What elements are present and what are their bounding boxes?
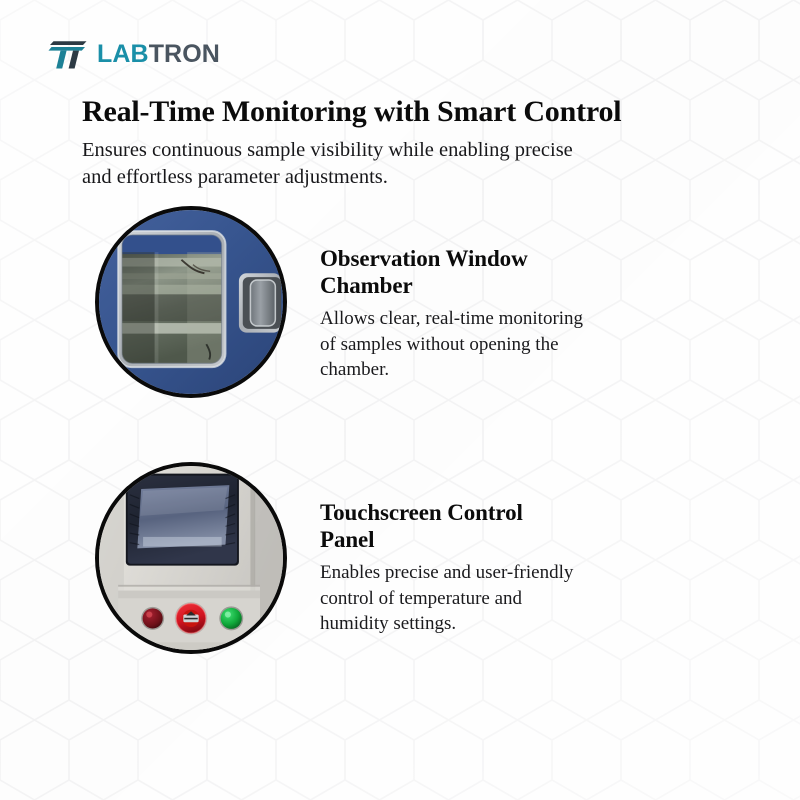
brand-wordmark: LABTRON xyxy=(97,42,220,67)
brand-word-lab: LAB xyxy=(97,40,149,68)
observation-window-photo xyxy=(95,206,287,398)
feature-touchscreen-panel-title: Touchscreen Control Panel xyxy=(320,500,692,553)
labtron-tt-monogram-icon xyxy=(48,38,90,70)
feature-desc-line-3: chamber. xyxy=(320,357,692,382)
heading-block: Real-Time Monitoring with Smart Control … xyxy=(82,96,702,190)
feature-desc-line-2: control of temperature and xyxy=(320,586,692,611)
feature-desc-line-2: of samples without opening the xyxy=(320,332,692,357)
feature-observation-window-text: Observation Window Chamber Allows clear,… xyxy=(320,246,692,382)
feature-observation-window-description: Allows clear, real-time monitoring of sa… xyxy=(320,306,692,382)
brand-logo[interactable]: LABTRON xyxy=(48,36,220,72)
feature-title-line-2: Chamber xyxy=(320,273,692,300)
feature-touchscreen-panel-text: Touchscreen Control Panel Enables precis… xyxy=(320,500,692,636)
feature-title-line-1: Touchscreen Control xyxy=(320,500,692,527)
page-subtitle-line-2: and effortless parameter adjustments. xyxy=(82,164,702,190)
feature-observation-window: Observation Window Chamber Allows clear,… xyxy=(0,206,800,406)
feature-desc-line-3: humidity settings. xyxy=(320,611,692,636)
brand-word-tron: TRON xyxy=(149,40,220,68)
page-title: Real-Time Monitoring with Smart Control xyxy=(82,96,702,128)
touchscreen-control-panel-photo xyxy=(95,462,287,654)
feature-touchscreen-panel: Touchscreen Control Panel Enables precis… xyxy=(0,462,800,668)
feature-desc-line-1: Enables precise and user-friendly xyxy=(320,560,692,585)
promo-card: LABTRON Real-Time Monitoring with Smart … xyxy=(0,0,800,800)
page-subtitle-line-1: Ensures continuous sample visibility whi… xyxy=(82,137,702,163)
page-subtitle: Ensures continuous sample visibility whi… xyxy=(82,137,702,189)
feature-title-line-1: Observation Window xyxy=(320,246,692,273)
feature-desc-line-1: Allows clear, real-time monitoring xyxy=(320,306,692,331)
feature-observation-window-title: Observation Window Chamber xyxy=(320,246,692,299)
feature-title-line-2: Panel xyxy=(320,527,692,554)
feature-touchscreen-panel-description: Enables precise and user-friendly contro… xyxy=(320,560,692,636)
